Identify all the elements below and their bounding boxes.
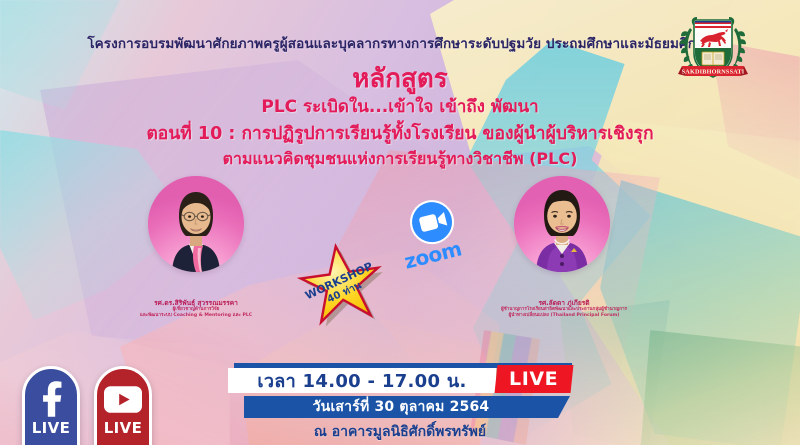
live-badge: LIVE — [495, 365, 574, 393]
speaker-left-caption: รศ.ดร.สิริพันธุ์ สุวรรณมรรคา ผู้เชี่ยวชา… — [106, 299, 286, 319]
speaker-left-photo — [148, 176, 244, 272]
facebook-live-label: LIVE — [32, 419, 71, 437]
poster-canvas: โครงการอบรมพัฒนาศักยภาพครูผู้สอนและบุคลา… — [0, 0, 800, 445]
speaker-right-name: รศ.ลัดดา ภู่เกียรติ — [466, 299, 662, 307]
youtube-live-button[interactable]: LIVE — [94, 366, 152, 445]
speaker-left-name: รศ.ดร.สิริพันธุ์ สุวรรณมรรคา — [106, 299, 286, 307]
speaker-right-photo — [514, 176, 610, 272]
schedule-time-row: เวลา 14.00 - 17.00 น. LIVE — [228, 363, 572, 393]
course-subtitle: PLC ระเบิดใน...เข้าใจ เข้าถึง พัฒนา — [0, 93, 800, 120]
school-crest: SAKDIBHORNSSATI — [676, 8, 750, 88]
zoom-logo: zoom — [396, 196, 470, 272]
time-bar: เวลา 14.00 - 17.00 น. — [228, 368, 496, 393]
facebook-f-icon — [37, 380, 65, 418]
youtube-play-icon — [104, 380, 142, 418]
zoom-wordmark: zoom — [402, 236, 464, 272]
date-label: วันเสาร์ที่ 30 ตุลาคม 2564 — [313, 396, 490, 418]
speaker-right-role-2: ผู้นำทางเปลี่ยนแปลง (Thailand Principal … — [466, 313, 662, 319]
crest-motto: SAKDIBHORNSSATI — [682, 68, 745, 75]
facebook-live-button[interactable]: LIVE — [22, 366, 80, 445]
date-bar: วันเสาร์ที่ 30 ตุลาคม 2564 — [244, 396, 558, 418]
episode-line-1: ตอนที่ 10 : การปฏิรูปการเรียนรู้ทั้งโรงเ… — [0, 119, 800, 147]
live-label: LIVE — [509, 368, 558, 390]
speaker-left-role-2: และพัฒนาระบบ Coaching & Mentoring และ PL… — [106, 313, 286, 319]
time-label: เวลา 14.00 - 17.00 น. — [257, 366, 466, 395]
episode-line-2: ตามแนวคิดชุมชนแห่งการเรียนรู้ทางวิชาชีพ … — [0, 147, 800, 172]
youtube-live-label: LIVE — [104, 419, 143, 437]
speaker-right-caption: รศ.ลัดดา ภู่เกียรติ ผู้ชำนาญการโรงเรียนส… — [466, 299, 662, 319]
workshop-badge: WORKSHOP 40 ท่าน — [296, 240, 386, 328]
